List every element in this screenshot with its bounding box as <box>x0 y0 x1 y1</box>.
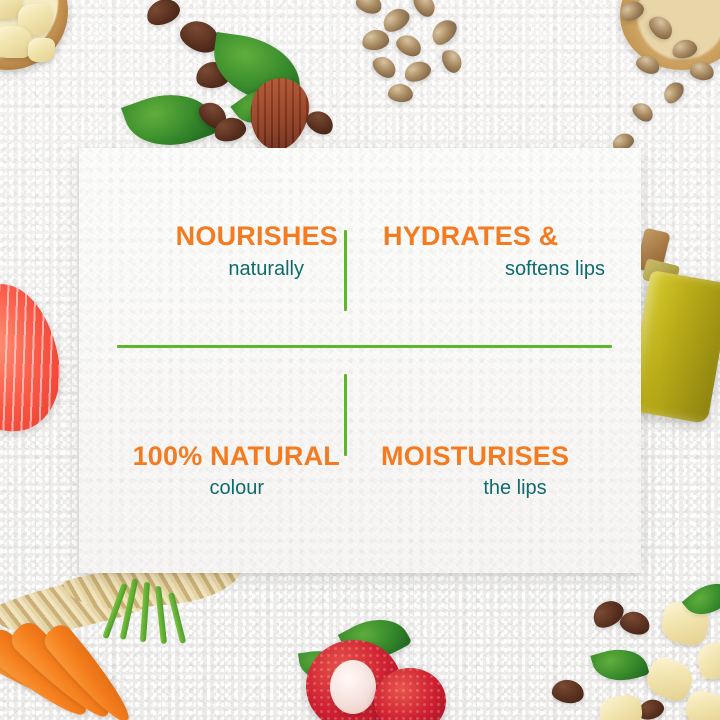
benefit-headline: HYDRATES & <box>383 222 559 251</box>
benefit-natural-colour: 100% NATURAL colour <box>79 361 360 574</box>
benefit-hydrates: HYDRATES & softens lips <box>360 148 641 361</box>
benefit-headline: MOISTURISES <box>381 442 569 471</box>
benefit-nourishes: NOURISHES naturally <box>79 148 360 361</box>
ingredient-benefits-graphic: NOURISHES naturally HYDRATES & softens l… <box>0 0 720 720</box>
benefit-moisturises: MOISTURISES the lips <box>360 361 641 574</box>
benefit-subline: the lips <box>483 477 546 499</box>
benefit-headline: NOURISHES <box>176 222 338 251</box>
benefits-card: NOURISHES naturally HYDRATES & softens l… <box>79 148 641 573</box>
benefit-headline: 100% NATURAL <box>133 442 340 471</box>
benefits-grid: NOURISHES naturally HYDRATES & softens l… <box>79 148 641 573</box>
benefit-subline: softens lips <box>505 258 605 280</box>
benefit-subline: naturally <box>228 258 304 280</box>
benefit-subline: colour <box>210 477 264 499</box>
